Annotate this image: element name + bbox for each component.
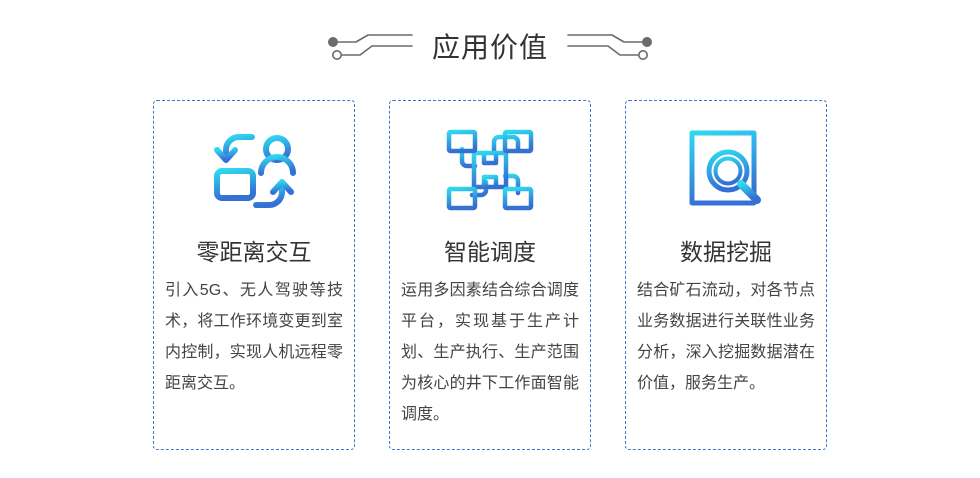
card-description: 运用多因素结合综合调度平台，实现基于生产计划、生产执行、生产范围为核心的井下工作… [401,275,579,430]
card-description: 引入5G、无人驾驶等技术，将工作环境变更到室内控制，实现人机远程零距离交互。 [165,275,343,399]
value-card-smart-scheduling[interactable]: 智能调度 运用多因素结合综合调度平台，实现基于生产计划、生产执行、生产范围为核心… [389,100,591,450]
value-card-remote-interaction[interactable]: 零距离交互 引入5G、无人驾驶等技术，将工作环境变更到室内控制，实现人机远程零距… [153,100,355,450]
card-description: 结合矿石流动，对各节点业务数据进行关联性业务分析，深入挖掘数据潜在价值，服务生产… [637,275,815,399]
smart-scheduling-network-icon [442,123,538,219]
value-cards-container: 零距离交互 引入5G、无人驾驶等技术，将工作环境变更到室内控制，实现人机远程零距… [0,100,980,450]
data-mining-document-search-icon [678,123,774,219]
card-title: 零距离交互 [197,235,312,269]
card-title: 数据挖掘 [680,235,772,269]
circuit-ornament-left [326,33,414,63]
title-row: 应用价值 [0,26,980,70]
card-title: 智能调度 [444,235,536,269]
header-divider [0,73,980,75]
page-title: 应用价值 [432,28,548,68]
circuit-ornament-right [566,33,654,63]
value-card-data-mining[interactable]: 数据挖掘 结合矿石流动，对各节点业务数据进行关联性业务分析，深入挖掘数据潜在价值… [625,100,827,450]
section-header: 应用价值 [0,0,980,92]
remote-interaction-icon [206,123,302,219]
